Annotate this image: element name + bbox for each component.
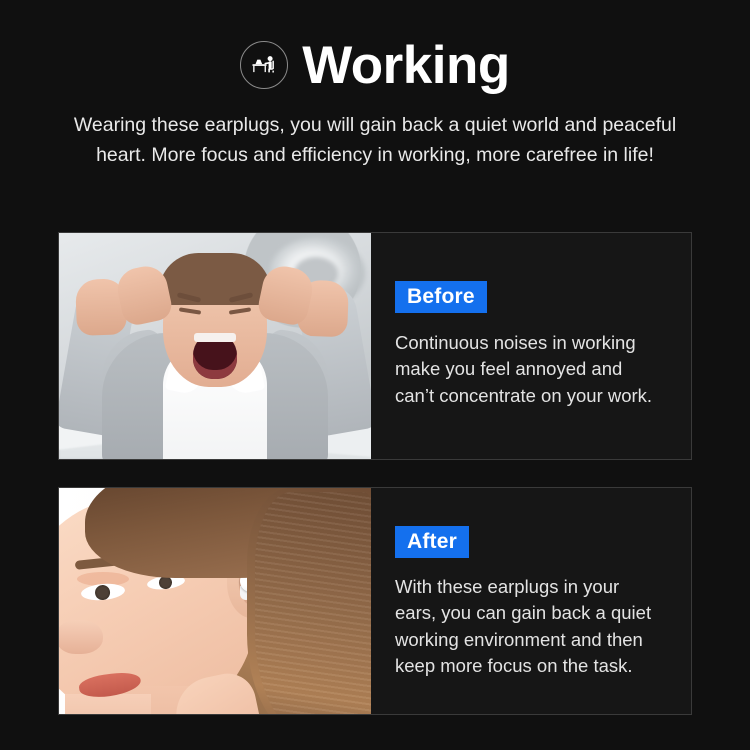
header-subtitle: Wearing these earplugs, you will gain ba… <box>55 110 695 170</box>
page-title: Working <box>302 39 510 92</box>
header: Working Wearing these earplugs, you will… <box>0 0 750 170</box>
after-description: With these earplugs in your ears, you ca… <box>395 574 663 679</box>
stressed-woman-covering-ears-photo <box>59 233 371 459</box>
calm-woman-wearing-earplug-photo <box>59 488 371 714</box>
before-description: Continuous noises in working make you fe… <box>395 330 663 409</box>
title-row: Working <box>0 34 750 96</box>
person-at-desk-icon <box>240 41 288 89</box>
after-badge: After <box>395 526 469 558</box>
before-panel-body: Before Continuous noises in working make… <box>371 233 691 459</box>
comparison-panels: Before Continuous noises in working make… <box>58 232 692 715</box>
after-panel-body: After With these earplugs in your ears, … <box>371 488 691 714</box>
after-panel: After With these earplugs in your ears, … <box>58 487 692 715</box>
product-feature-page: Working Wearing these earplugs, you will… <box>0 0 750 750</box>
before-panel: Before Continuous noises in working make… <box>58 232 692 460</box>
before-badge: Before <box>395 281 487 313</box>
